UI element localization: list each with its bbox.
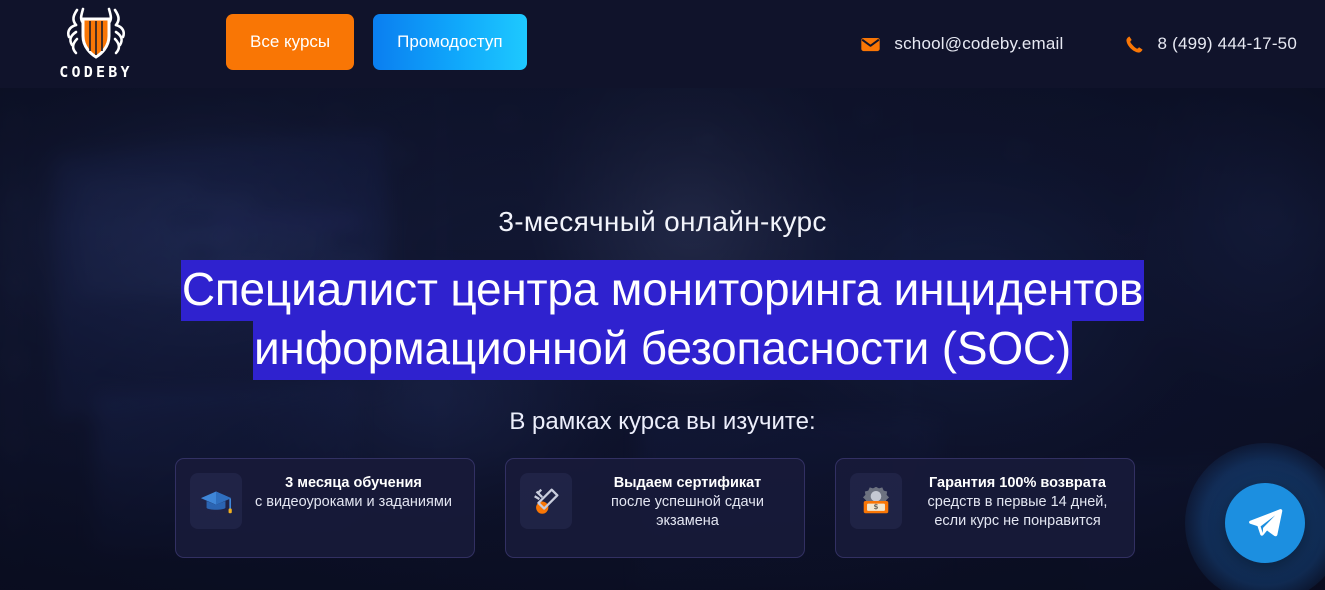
- envelope-icon: [860, 34, 881, 55]
- spider-shield-logo-icon: [63, 6, 129, 62]
- site-logo[interactable]: CODEBY: [46, 6, 146, 80]
- money-back-icon: $: [859, 484, 893, 518]
- contact-phone-text: 8 (499) 444-17-50: [1158, 34, 1298, 54]
- feature-cards: 3 месяца обучения с видеоуроками и задан…: [175, 458, 1135, 558]
- header-contacts: school@codeby.email 8 (499) 444-17-50: [860, 0, 1297, 88]
- feature-card-title: Гарантия 100% возврата: [915, 474, 1120, 493]
- feature-card-icon-wrap: [190, 473, 242, 529]
- logo-wordmark: CODEBY: [59, 65, 132, 80]
- phone-icon: [1124, 34, 1145, 55]
- telegram-button[interactable]: [1225, 483, 1305, 563]
- graduation-cap-icon: [199, 484, 233, 518]
- hero-subhead: В рамках курса вы изучите:: [0, 408, 1325, 436]
- hero-headline: Специалист центра мониторинга инцидентов…: [0, 260, 1325, 378]
- feature-card: 3 месяца обучения с видеоуроками и задан…: [175, 458, 475, 558]
- all-courses-button[interactable]: Все курсы: [226, 14, 354, 70]
- feature-card: Выдаем сертификат после успешной сдачи э…: [505, 458, 805, 558]
- telegram-float-widget: [1185, 443, 1325, 590]
- site-header: CODEBY Все курсы Промодоступ school@code…: [0, 0, 1325, 88]
- page-root: CODEBY Все курсы Промодоступ school@code…: [0, 0, 1325, 590]
- contact-email[interactable]: school@codeby.email: [860, 34, 1063, 55]
- feature-card-desc: после успешной сдачи экзамена: [585, 493, 790, 531]
- contact-email-text: school@codeby.email: [894, 34, 1063, 54]
- hero-headline-line-2: информационной безопасности (SOC): [253, 319, 1072, 380]
- certificate-medal-icon: [529, 484, 563, 518]
- feature-card: $ Гарантия 100% возврата средств в первы…: [835, 458, 1135, 558]
- hero-content: 3-месячный онлайн-курс Специалист центра…: [0, 88, 1325, 590]
- feature-card-title: Выдаем сертификат: [585, 474, 790, 493]
- feature-card-title: 3 месяца обучения: [255, 474, 452, 493]
- hero-headline-line-1: Специалист центра мониторинга инцидентов: [181, 260, 1144, 321]
- feature-card-text: 3 месяца обучения с видеоуроками и задан…: [255, 473, 452, 512]
- feature-card-text: Гарантия 100% возврата средств в первые …: [915, 473, 1120, 531]
- feature-card-text: Выдаем сертификат после успешной сдачи э…: [585, 473, 790, 531]
- feature-card-icon-wrap: [520, 473, 572, 529]
- feature-card-icon-wrap: $: [850, 473, 902, 529]
- promo-access-button[interactable]: Промодоступ: [373, 14, 526, 70]
- feature-card-desc: с видеоуроками и заданиями: [255, 493, 452, 512]
- contact-phone[interactable]: 8 (499) 444-17-50: [1124, 34, 1298, 55]
- telegram-paper-plane-icon: [1246, 504, 1284, 542]
- hero-eyebrow: 3-месячный онлайн-курс: [0, 206, 1325, 238]
- feature-card-desc: средств в первые 14 дней, если курс не п…: [915, 493, 1120, 531]
- header-nav-buttons: Все курсы Промодоступ: [226, 14, 527, 70]
- hero-section: 3-месячный онлайн-курс Специалист центра…: [0, 88, 1325, 590]
- svg-text:$: $: [874, 502, 879, 511]
